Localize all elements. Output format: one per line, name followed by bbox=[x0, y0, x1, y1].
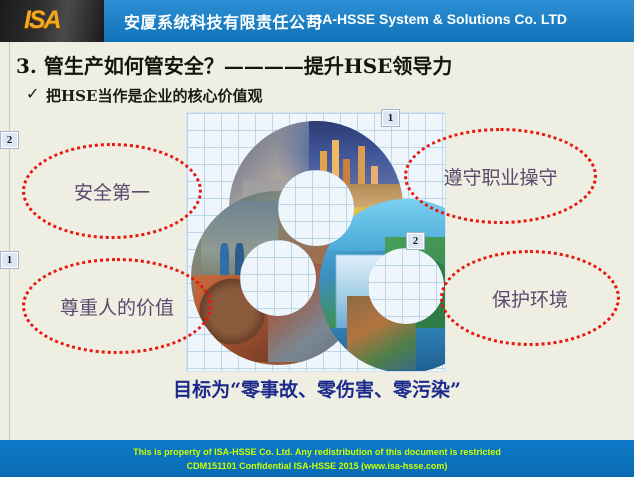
callout-label: 遵守职业操守 bbox=[443, 163, 557, 190]
header-bar: ISA 安厦系统科技有限责任公司 ISA-HSSE System & Solut… bbox=[0, 0, 634, 42]
check-icon: ✓ bbox=[26, 84, 39, 104]
collage-ring-hole bbox=[240, 240, 316, 316]
callout-label: 尊重人的价值 bbox=[60, 293, 174, 320]
footer-document-line: CDM151101 Confidential ISA-HSSE 2015 (ww… bbox=[0, 460, 634, 474]
footer-bar: This is property of ISA-HSSE Co. Ltd. An… bbox=[0, 440, 634, 477]
goal-statement: 目标为“零事故、零伤害、零污染” bbox=[0, 375, 634, 402]
callout-label: 安全第一 bbox=[74, 178, 150, 205]
annotation-badge-image-middle[interactable]: 2 bbox=[406, 232, 425, 250]
isa-logo-icon: ISA bbox=[24, 6, 60, 35]
callout-professional-ethics: 遵守职业操守 bbox=[404, 128, 597, 224]
page-title: 3. 管生产如何管安全？————提升HSE领导力 bbox=[16, 50, 452, 79]
annotation-badge-left-lower[interactable]: 1 bbox=[0, 251, 19, 269]
annotation-badge-image-top[interactable]: 1 bbox=[381, 109, 400, 127]
slide-root: ISA 安厦系统科技有限责任公司 ISA-HSSE System & Solut… bbox=[0, 0, 634, 477]
company-name-cn: 安厦系统科技有限责任公司 bbox=[124, 9, 322, 33]
company-name-en: ISA-HSSE System & Solutions Co. LTD bbox=[309, 11, 567, 27]
callout-protect-environment: 保护环境 bbox=[440, 250, 620, 346]
logo-panel: ISA bbox=[0, 0, 104, 42]
header-title-panel: 安厦系统科技有限责任公司 ISA-HSSE System & Solutions… bbox=[104, 0, 634, 42]
callout-safety-first: 安全第一 bbox=[22, 143, 202, 239]
callout-label: 保护环境 bbox=[492, 285, 568, 312]
collage-ring-hole bbox=[368, 248, 444, 324]
footer-copyright-line: This is property of ISA-HSSE Co. Ltd. An… bbox=[0, 440, 634, 460]
callout-respect-human-value: 尊重人的价值 bbox=[22, 258, 212, 354]
page-subtitle: 把HSE当作是企业的核心价值观 bbox=[46, 85, 262, 106]
collage-ring-hole bbox=[278, 170, 354, 246]
annotation-badge-left-upper[interactable]: 2 bbox=[0, 131, 19, 149]
